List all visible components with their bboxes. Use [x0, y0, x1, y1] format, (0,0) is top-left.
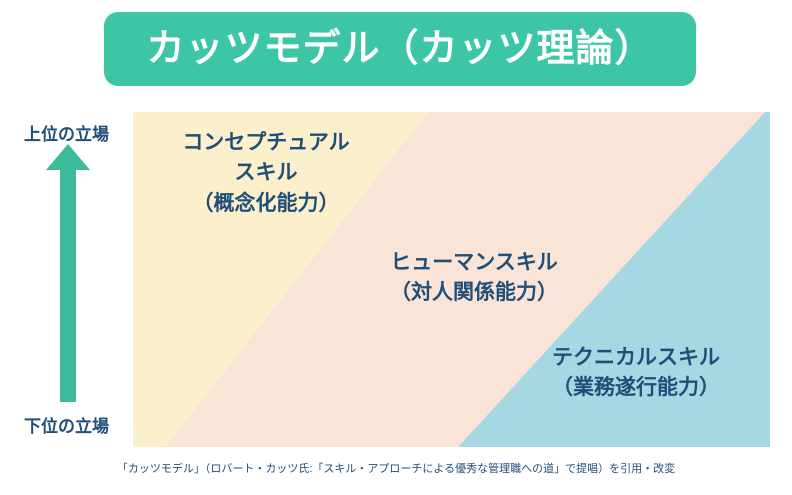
band-label-conceptual-line2: スキル: [141, 158, 391, 188]
katz-model-diagram: コンセプチュアル スキル （概念化能力） ヒューマンスキル （対人関係能力） テ…: [133, 112, 770, 447]
axis-label-bottom: 下位の立場: [0, 412, 133, 437]
band-label-technical-line1: テクニカルスキル: [511, 343, 761, 373]
band-label-human-line2: （対人関係能力）: [329, 278, 619, 308]
band-label-conceptual-line1: コンセプチュアル: [141, 128, 391, 158]
band-label-conceptual: コンセプチュアル スキル （概念化能力）: [141, 128, 391, 219]
band-label-technical-line2: （業務遂行能力）: [511, 373, 761, 403]
title-banner: カッツモデル（カッツ理論）: [104, 12, 696, 86]
up-arrow-icon: [44, 144, 92, 402]
vertical-axis: 上位の立場 下位の立場: [0, 106, 133, 442]
axis-label-top: 上位の立場: [0, 120, 133, 145]
source-citation: 「カッツモデル」（ロバート・カッツ氏:「スキル・アプローチによる優秀な管理職への…: [0, 460, 792, 476]
band-label-technical: テクニカルスキル （業務遂行能力）: [511, 343, 761, 404]
page-title: カッツモデル（カッツ理論）: [146, 30, 653, 68]
band-label-human: ヒューマンスキル （対人関係能力）: [329, 248, 619, 309]
band-label-human-line1: ヒューマンスキル: [329, 248, 619, 278]
band-label-conceptual-line3: （概念化能力）: [141, 189, 391, 219]
